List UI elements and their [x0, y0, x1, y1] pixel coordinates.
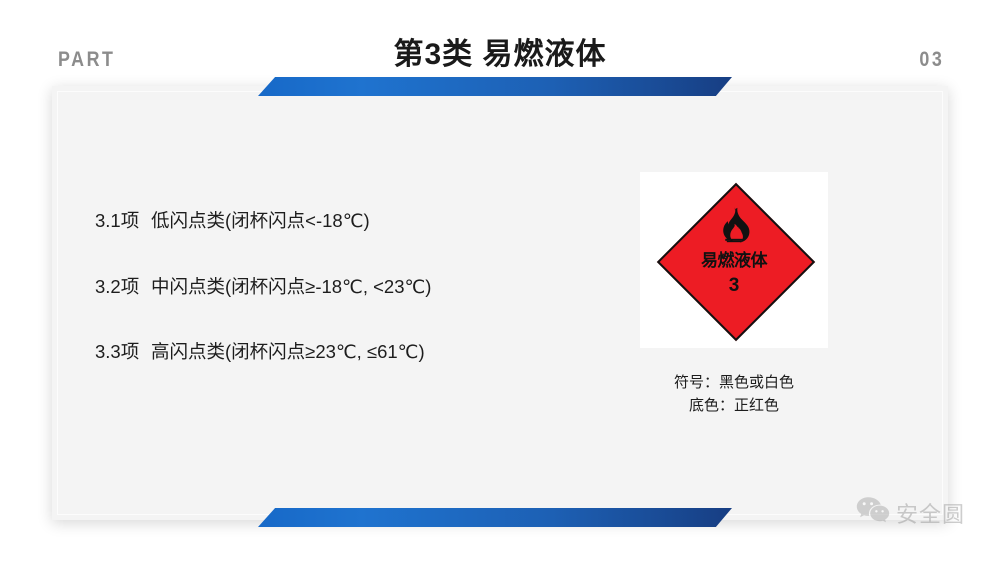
list-item-text: 中闪点类(闭杯闪点≥-18℃, <23℃): [151, 276, 431, 297]
list-item-text: 高闪点类(闭杯闪点≥23℃, ≤61℃): [151, 341, 425, 362]
slide: PART 03 第3类 易燃液体 3.1项低闪点类(闭杯闪点<-18℃) 3.2…: [0, 0, 1000, 562]
list-item: 3.1项低闪点类(闭杯闪点<-18℃): [95, 212, 565, 231]
placard-label: 易燃液体: [701, 252, 767, 269]
list-item-text: 低闪点类(闭杯闪点<-18℃): [151, 210, 370, 231]
placard-diamond-wrap: 易燃液体 3: [658, 184, 810, 336]
placard-caption: 符号：黑色或白色 底色：正红色: [620, 372, 848, 417]
list-item-number: 3.2项: [95, 278, 151, 297]
list-item: 3.2项中闪点类(闭杯闪点≥-18℃, <23℃): [95, 278, 565, 297]
placard-number: 3: [729, 276, 740, 295]
caption-line-background: 底色：正红色: [620, 395, 848, 418]
watermark-text: 安全圆: [896, 497, 965, 529]
page-title: 第3类 易燃液体: [0, 29, 1000, 73]
list-item-number: 3.3项: [95, 343, 151, 362]
watermark: 安全圆: [856, 496, 965, 529]
caption-line-symbol: 符号：黑色或白色: [620, 372, 848, 395]
hazard-class-list: 3.1项低闪点类(闭杯闪点<-18℃) 3.2项中闪点类(闭杯闪点≥-18℃, …: [95, 212, 565, 362]
accent-bar-top: [258, 77, 732, 96]
accent-bar-bottom: [258, 508, 732, 527]
list-item-number: 3.1项: [95, 212, 151, 231]
hazard-placard-image: 易燃液体 3: [640, 172, 828, 348]
wechat-icon: [856, 496, 890, 529]
flame-icon: [714, 206, 754, 251]
list-item: 3.3项高闪点类(闭杯闪点≥23℃, ≤61℃): [95, 343, 565, 362]
placard-content: 易燃液体 3: [658, 184, 810, 336]
